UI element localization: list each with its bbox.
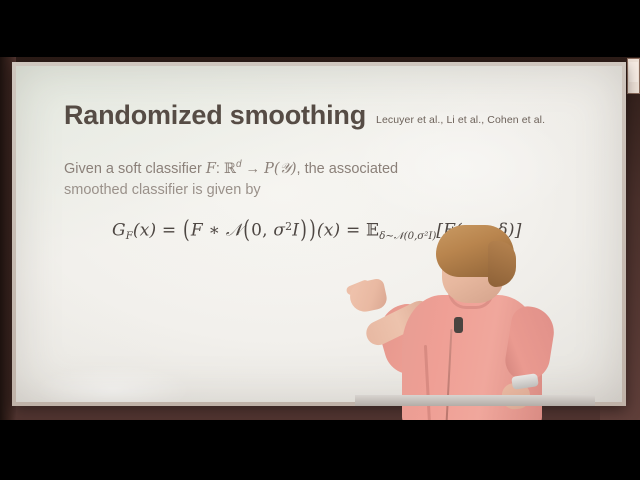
presenter-hair-side — [488, 241, 516, 287]
eq-G: G — [112, 220, 126, 240]
eq-sigma: σ — [273, 220, 285, 240]
eq-conv-star: ∗ — [203, 220, 226, 240]
math-colon: : — [216, 161, 224, 177]
eq-G-subscript: F — [126, 231, 133, 242]
eq-conv-open-paren: ( — [243, 216, 250, 245]
body-prefix: Given a soft classifier — [64, 161, 206, 177]
letterbox-top — [0, 0, 640, 57]
body-suffix: , the associated — [297, 161, 399, 177]
slide-body-line-1: Given a soft classifier F: ℝd → P(𝒴), th… — [64, 158, 534, 180]
wall-panel-right-inner — [629, 62, 638, 82]
math-F: F — [206, 161, 216, 177]
eq-open-paren: ( — [183, 216, 190, 245]
letterbox-bottom — [0, 420, 640, 480]
eq-mean-zero: 0, — [251, 220, 273, 240]
eq-close-paren: ) — [309, 216, 316, 245]
slide-title-row: Randomized smoothing Lecuyer et al., Li … — [64, 102, 545, 129]
eq-conv-F: F — [191, 220, 203, 240]
eq-equals-1: = — [156, 220, 182, 240]
math-label-set: (𝒴) — [274, 161, 297, 177]
eq-identity: I — [292, 220, 299, 240]
eq-conv-close-paren: ) — [300, 216, 307, 245]
slide-body: Given a soft classifier F: ℝd → P(𝒴), th… — [64, 158, 534, 201]
math-arrow: → — [242, 161, 265, 177]
slide-title: Randomized smoothing — [64, 102, 366, 129]
desk-edge — [355, 395, 595, 406]
math-reals: ℝ — [224, 161, 236, 177]
slide-citation: Lecuyer et al., Li et al., Cohen et al. — [376, 114, 545, 126]
slide-body-line-2: smoothed classifier is given by — [64, 180, 534, 201]
math-P: P — [264, 161, 274, 177]
eq-normal-dist: 𝒩 — [226, 220, 243, 240]
lapel-microphone-icon — [454, 317, 463, 333]
eq-G-arg: (x) — [133, 220, 156, 240]
video-frame: Randomized smoothing Lecuyer et al., Li … — [0, 0, 640, 480]
